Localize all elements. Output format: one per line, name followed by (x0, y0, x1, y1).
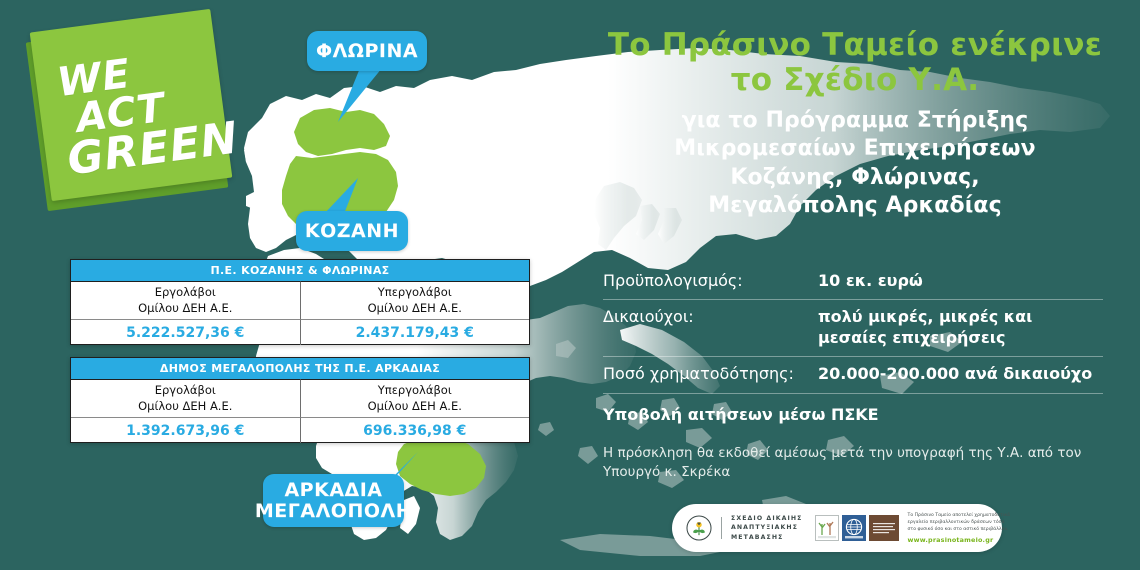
col-label-line2: Ομίλου ΔΕΗ Α.Ε. (368, 399, 462, 415)
submission-text: Υποβολή αιτήσεων μέσω ΠΣΚΕ (603, 405, 879, 424)
sdam-line-2: ΑΝΑΠΤΥΞΙΑΚΗΣ (731, 523, 803, 533)
col-label-line2: Ομίλου ΔΕΗ Α.Ε. (368, 301, 462, 317)
headline-line-1: Το Πράσινο Ταμείο ενέκρινε (585, 28, 1125, 63)
callout-florina[interactable]: ΦΛΩΡΙΝΑ (307, 31, 427, 71)
table-row: 1.392.673,96 € 696.336,98 € (71, 417, 529, 443)
table-row: 5.222.527,36 € 2.437.179,43 € (71, 319, 529, 345)
info-value: 10 εκ. ευρώ (818, 271, 923, 291)
logo-text: WE ACT GREEN (35, 12, 256, 212)
info-row-beneficiaries: Δικαιούχοι: πολύ μικρές, μικρές και μεσα… (603, 300, 1103, 357)
callout-tail-florina (330, 66, 400, 126)
fine-print-line-3: στο φυσικό όσο και στο αστικό περιβάλλον… (908, 526, 1010, 533)
info-row-funding-amount: Ποσό χρηματοδότησης: 20.000-200.000 ανά … (603, 357, 1103, 393)
col-label-line1: Εργολάβοι (138, 285, 232, 301)
info-label: Προϋπολογισμός: (603, 271, 818, 291)
partner-badges (815, 515, 899, 541)
info-label: Δικαιούχοι: (603, 307, 818, 327)
info-value: 20.000-200.000 ανά δικαιούχο (818, 364, 1092, 384)
col-label-line2: Ομίλου ΔΕΗ Α.Ε. (138, 301, 232, 317)
sdam-logo-text: ΣΧΕΔΙΟ ΔΙΚΑΙΗΣ ΑΝΑΠΤΥΞΙΑΚΗΣ ΜΕΤΑΒΑΣΗΣ (731, 514, 803, 543)
table-col-header-contractors: Εργολάβοι Ομίλου ΔΕΗ Α.Ε. (71, 281, 300, 319)
logo-divider (721, 517, 722, 539)
footer-logo-bar: ΣΧΕΔΙΟ ΔΙΚΑΙΗΣ ΑΝΑΠΤΥΞΙΑΚΗΣ ΜΕΤΑΒΑΣΗΣ (672, 504, 1002, 552)
right-content-panel: Το Πράσινο Ταμείο ενέκρινε το Σχέδιο Υ.Α… (585, 0, 1125, 570)
callout-kozani-label: ΚΟΖΑΝΗ (305, 221, 399, 242)
subtitle-line-1: για το Πρόγραμμα Στήριξης (585, 107, 1125, 136)
globe-badge-icon (842, 515, 866, 541)
subtitle-line-4: Μεγαλόπολης Αρκαδίας (585, 192, 1125, 221)
table-value-subcontractors: 696.336,98 € (300, 417, 530, 443)
col-label-line1: Εργολάβοι (138, 383, 232, 399)
table-value-subcontractors: 2.437.179,43 € (300, 319, 530, 345)
callout-arkadia-label-1: ΑΡΚΑΔΙΑ (284, 480, 382, 501)
info-row-budget: Προϋπολογισμός: 10 εκ. ευρώ (603, 264, 1103, 300)
table-header: Π.Ε. ΚΟΖΑΝΗΣ & ΦΛΩΡΙΝΑΣ (71, 260, 529, 281)
sdam-logo: ΣΧΕΔΙΟ ΔΙΚΑΙΗΣ ΑΝΑΠΤΥΞΙΑΚΗΣ ΜΕΤΑΒΑΣΗΣ (686, 514, 803, 543)
table-col-header-subcontractors: Υπεργολάβοι Ομίλου ΔΕΗ Α.Ε. (300, 379, 530, 417)
table-megalopoli: ΔΗΜΟΣ ΜΕΓΑΛΟΠΟΛΗΣ ΤΗΣ Π.Ε. ΑΡΚΑΔΙΑΣ Εργο… (70, 357, 530, 443)
callout-kozani[interactable]: ΚΟΖΑΝΗ (296, 211, 408, 251)
info-list: Προϋπολογισμός: 10 εκ. ευρώ Δικαιούχοι: … (603, 264, 1103, 483)
infographic-canvas: WE ACT GREEN ΦΛΩΡΙΝΑ ΚΟΖΑΝΗ ΑΡΚΑΔΙΑ ΜΕΓΑ… (0, 0, 1140, 570)
website-url[interactable]: www.prasinotameio.gr (908, 536, 1010, 544)
table-col-header-subcontractors: Υπεργολάβοι Ομίλου ΔΕΗ Α.Ε. (300, 281, 530, 319)
col-label-line1: Υπεργολάβοι (368, 285, 462, 301)
table-value-contractors: 5.222.527,36 € (71, 319, 300, 345)
sdam-line-1: ΣΧΕΔΙΟ ΔΙΚΑΙΗΣ (731, 514, 803, 524)
table-col-header-contractors: Εργολάβοι Ομίλου ΔΕΗ Α.Ε. (71, 379, 300, 417)
flower-circle-icon (686, 515, 712, 541)
col-label-line2: Ομίλου ΔΕΗ Α.Ε. (138, 399, 232, 415)
sdam-line-3: ΜΕΤΑΒΑΣΗΣ (731, 533, 803, 543)
subtitle-line-3: Κοζάνης, Φλώρινας, (585, 164, 1125, 193)
col-label-line1: Υπεργολάβοι (368, 383, 462, 399)
info-value: πολύ μικρές, μικρές και μεσαίες επιχειρή… (818, 307, 1103, 348)
fine-print-line-2: εργαλείο περιβαλλοντικών δράσεων τόσο (908, 519, 1010, 526)
callout-arkadia-label-2: ΜΕΓΑΛΟΠΟΛΗ (255, 501, 412, 522)
table-kozani-florina: Π.Ε. ΚΟΖΑΝΗΣ & ΦΛΩΡΙΝΑΣ Εργολάβοι Ομίλου… (70, 259, 530, 345)
callout-florina-label: ΦΛΩΡΙΝΑ (316, 41, 418, 62)
table-row: Εργολάβοι Ομίλου ΔΕΗ Α.Ε. Υπεργολάβοι Ομ… (71, 281, 529, 319)
page-title: Το Πράσινο Ταμείο ενέκρινε το Σχέδιο Υ.Α… (585, 0, 1125, 99)
tree-badge-icon (815, 515, 839, 541)
brown-text-badge-icon (869, 515, 899, 541)
page-subtitle: για το Πρόγραμμα Στήριξης Μικρομεσαίων Ε… (585, 107, 1125, 221)
table-row: Εργολάβοι Ομίλου ΔΕΗ Α.Ε. Υπεργολάβοι Ομ… (71, 379, 529, 417)
table-header: ΔΗΜΟΣ ΜΕΓΑΛΟΠΟΛΗΣ ΤΗΣ Π.Ε. ΑΡΚΑΔΙΑΣ (71, 358, 529, 379)
table-value-contractors: 1.392.673,96 € (71, 417, 300, 443)
info-row-submission: Υποβολή αιτήσεων μέσω ΠΣΚΕ (603, 394, 1103, 428)
disclaimer-note: Η πρόσκληση θα εκδοθεί αμέσως μετά την υ… (603, 444, 1103, 483)
subtitle-line-2: Μικρομεσαίων Επιχειρήσεων (585, 135, 1125, 164)
callout-arkadia[interactable]: ΑΡΚΑΔΙΑ ΜΕΓΑΛΟΠΟΛΗ (263, 474, 404, 527)
fine-print-line-1: Το Πράσινο Ταμείο αποτελεί χρηματοδοτικό (908, 512, 1010, 519)
headline-line-2: το Σχέδιο Υ.Α. (585, 63, 1125, 98)
info-label: Ποσό χρηματοδότησης: (603, 364, 818, 384)
fine-print-block: Το Πράσινο Ταμείο αποτελεί χρηματοδοτικό… (908, 512, 1010, 545)
we-act-green-logo: WE ACT GREEN (18, 8, 258, 223)
